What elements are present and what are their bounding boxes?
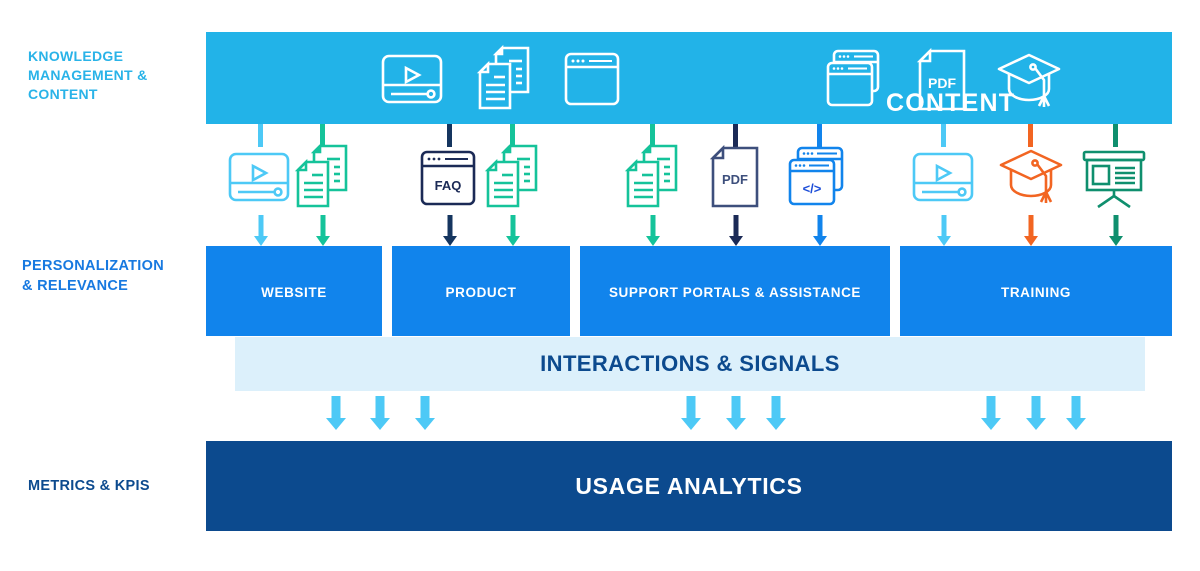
arrow-to-analytics-3 — [414, 396, 436, 430]
connector-stem-website-video — [258, 124, 263, 147]
graduation-cap-icon — [998, 148, 1064, 206]
arrow-to-analytics-2 — [369, 396, 391, 430]
usage-analytics-bar: USAGE ANALYTICS — [206, 441, 1172, 531]
arrow-to-support-docs — [644, 215, 662, 245]
channel-panel-product[interactable]: PRODUCT — [392, 246, 570, 336]
content-bar: PDF CONTENT — [206, 32, 1172, 124]
channel-panel-support[interactable]: SUPPORT PORTALS & ASSISTANCE — [580, 246, 890, 336]
arrow-to-support-code — [811, 215, 829, 245]
usage-analytics-title: USAGE ANALYTICS — [206, 473, 1172, 500]
browser-windows-stack-icon — [826, 49, 888, 109]
arrow-to-training-course — [1022, 215, 1040, 245]
presentation-board-icon — [1082, 150, 1146, 208]
arrow-to-analytics-4 — [680, 396, 702, 430]
interactions-signals-band: INTERACTIONS & SIGNALS — [235, 337, 1145, 391]
rail-label-personalization: PERSONALIZATION & RELEVANCE — [22, 257, 202, 296]
browser-window-icon — [564, 52, 620, 106]
documents-stack-icon — [296, 144, 356, 210]
documents-stack-icon — [626, 144, 686, 210]
rail-label-metrics-kpis: METRICS & KPIS — [28, 477, 208, 497]
channel-label-website: WEBSITE — [206, 285, 382, 300]
connector-stem-support-code — [817, 124, 822, 147]
channel-panel-training[interactable]: TRAINING — [900, 246, 1172, 336]
arrow-to-training-deck — [1107, 215, 1125, 245]
connector-stem-training-course — [1028, 124, 1033, 147]
arrow-to-website-video — [252, 215, 270, 245]
faq-browser-icon: FAQ — [420, 150, 476, 206]
documents-stack-icon — [478, 46, 538, 112]
arrow-to-analytics-6 — [765, 396, 787, 430]
pdf-label: PDF — [722, 172, 748, 187]
arrow-to-analytics-9 — [1065, 396, 1087, 430]
channel-label-product: PRODUCT — [392, 285, 570, 300]
arrow-to-analytics-8 — [1025, 396, 1047, 430]
code-browser-stack-icon: </> — [788, 146, 850, 208]
rail-label-knowledge-management: KNOWLEDGE MANAGEMENT & CONTENT — [28, 47, 198, 104]
content-bar-title: CONTENT — [886, 89, 1015, 118]
arrow-to-analytics-1 — [325, 396, 347, 430]
interactions-signals-title: INTERACTIONS & SIGNALS — [235, 351, 1145, 377]
arrow-to-analytics-7 — [980, 396, 1002, 430]
connector-stem-training-deck — [1113, 124, 1118, 147]
diagram-canvas: KNOWLEDGE MANAGEMENT & CONTENT PERSONALI… — [0, 0, 1200, 571]
arrow-to-product-faq — [441, 215, 459, 245]
faq-label: FAQ — [435, 178, 462, 193]
arrow-to-support-pdf — [727, 215, 745, 245]
pdf-document-icon: PDF — [709, 146, 761, 208]
channel-panel-website[interactable]: WEBSITE — [206, 246, 382, 336]
video-player-icon — [381, 54, 443, 104]
video-player-icon — [228, 152, 290, 202]
arrow-to-training-video — [935, 215, 953, 245]
channel-label-support: SUPPORT PORTALS & ASSISTANCE — [580, 285, 890, 300]
arrow-to-analytics-5 — [725, 396, 747, 430]
arrow-to-website-docs — [314, 215, 332, 245]
code-label: </> — [803, 181, 822, 196]
arrow-to-product-docs — [504, 215, 522, 245]
documents-stack-icon — [486, 144, 546, 210]
channel-label-training: TRAINING — [900, 285, 1172, 300]
connector-stem-product-faq — [447, 124, 452, 147]
connector-stem-support-pdf — [733, 124, 738, 147]
connector-stem-training-video — [941, 124, 946, 147]
video-player-icon — [912, 152, 974, 202]
